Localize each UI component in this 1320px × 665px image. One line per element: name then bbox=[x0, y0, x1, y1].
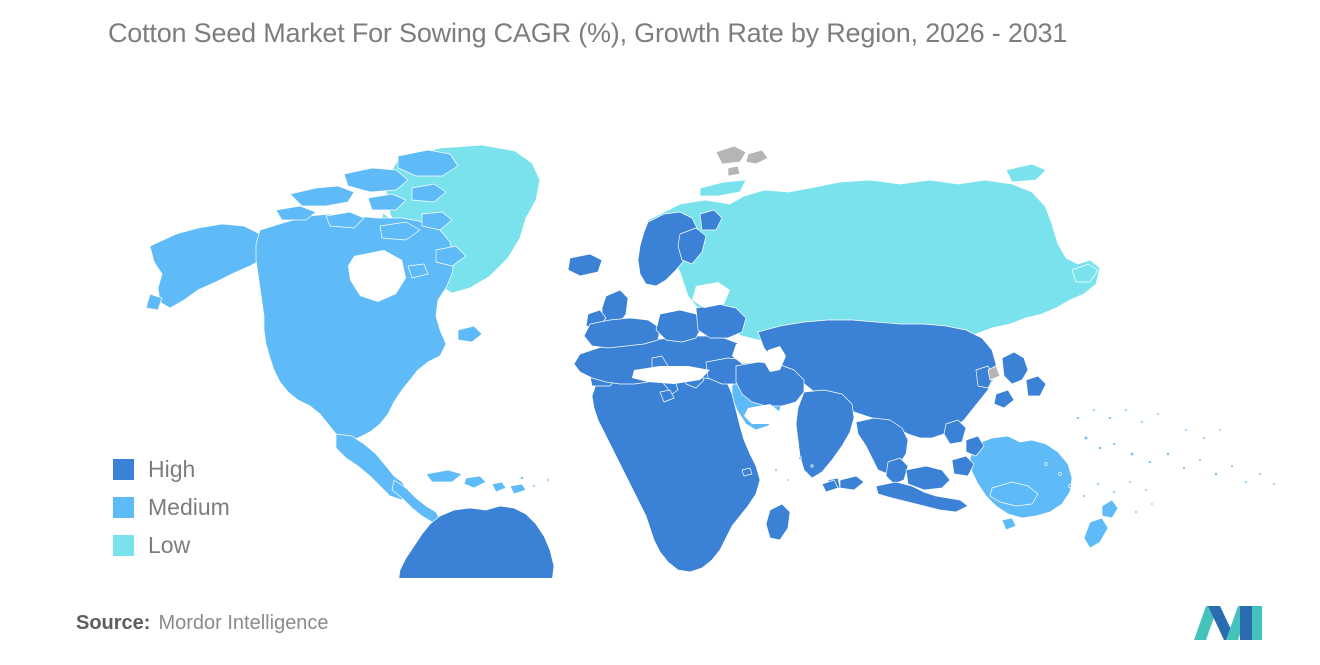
legend-label-medium: Medium bbox=[148, 496, 230, 519]
legend-swatch-low bbox=[113, 535, 134, 556]
source-label: Source: bbox=[76, 612, 150, 634]
logo-mark-icon bbox=[1192, 600, 1264, 642]
legend-item-high[interactable]: High bbox=[113, 450, 230, 488]
mordor-intelligence-logo[interactable] bbox=[1192, 600, 1264, 642]
source-value: Mordor Intelligence bbox=[158, 612, 328, 634]
legend-swatch-medium bbox=[113, 497, 134, 518]
legend-label-high: High bbox=[148, 458, 195, 481]
source-line: Source:Mordor Intelligence bbox=[76, 612, 329, 635]
legend-item-low[interactable]: Low bbox=[113, 526, 230, 564]
world-map-svg bbox=[140, 118, 1300, 578]
world-choropleth-map bbox=[140, 118, 1300, 578]
legend: High Medium Low bbox=[113, 450, 230, 564]
legend-item-medium[interactable]: Medium bbox=[113, 488, 230, 526]
region-south-america bbox=[398, 506, 554, 578]
page-title: Cotton Seed Market For Sowing CAGR (%), … bbox=[108, 18, 1067, 49]
legend-label-low: Low bbox=[148, 534, 190, 557]
legend-swatch-high bbox=[113, 459, 134, 480]
